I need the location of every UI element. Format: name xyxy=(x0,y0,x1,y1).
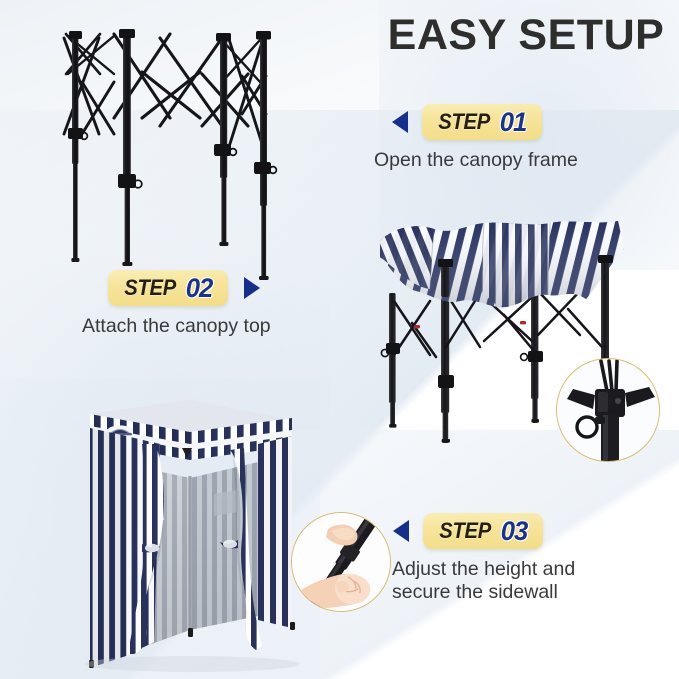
step-02-badge-number: 02 xyxy=(186,273,213,304)
step-01-caption-line-1: Open the canopy frame xyxy=(374,149,578,172)
step-01-group: STEP 01 Open the canopy frame xyxy=(392,104,578,172)
step-03-group: STEP 03 Adjust the height and secure the… xyxy=(393,513,575,604)
step-03-badge: STEP 03 xyxy=(423,513,543,549)
step-02-caption: Attach the canopy top xyxy=(82,315,271,338)
step-01-badge: STEP 01 xyxy=(422,104,542,140)
canopy-frame-illustration xyxy=(52,22,304,248)
leg-joint-detail-callout xyxy=(556,358,660,462)
step-02-badge: STEP 02 xyxy=(108,270,228,306)
step-02-badge-row: STEP 02 xyxy=(108,270,271,306)
step-01-badge-label: STEP xyxy=(438,109,490,135)
step-03-badge-label: STEP xyxy=(439,518,491,544)
infographic-page: EASY SETUP xyxy=(0,0,679,679)
step-01-badge-number: 01 xyxy=(500,107,527,138)
step-01-caption: Open the canopy frame xyxy=(374,149,578,172)
step-03-caption-line-1: Adjust the height and xyxy=(392,558,575,581)
arrow-left-icon-2 xyxy=(393,520,409,542)
step-02-group: STEP 02 Attach the canopy top xyxy=(108,270,271,338)
cabana-changing-room-illustration xyxy=(42,392,326,670)
arrow-left-icon xyxy=(392,111,408,133)
step-03-badge-number: 03 xyxy=(501,516,528,547)
step-02-caption-line-1: Attach the canopy top xyxy=(82,315,271,338)
step-03-caption-line-2: secure the sidewall xyxy=(392,581,575,604)
height-adjust-hand-detail-callout xyxy=(291,512,391,612)
step-03-badge-row: STEP 03 xyxy=(393,513,575,549)
step-01-badge-row: STEP 01 xyxy=(392,104,578,140)
step-02-badge-label: STEP xyxy=(124,275,176,301)
arrow-right-icon xyxy=(244,277,260,299)
page-title: EASY SETUP xyxy=(383,10,669,60)
step-03-caption: Adjust the height and secure the sidewal… xyxy=(392,558,575,604)
